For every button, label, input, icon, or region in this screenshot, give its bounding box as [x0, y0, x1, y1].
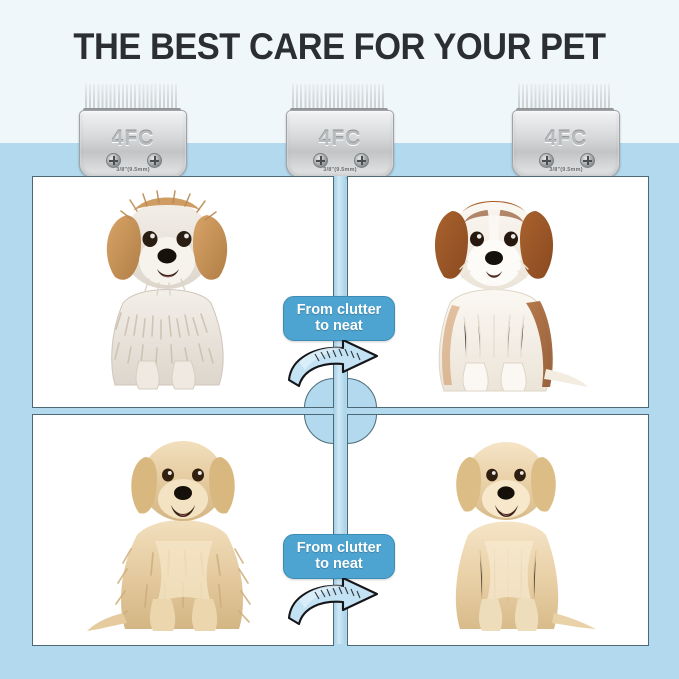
dog-photo-before-row1 [71, 185, 261, 397]
dog-photo-after-row2 [408, 425, 604, 635]
panel-corner-notch [347, 414, 377, 444]
blade-screw-right-icon [580, 153, 595, 168]
blade-size-label: 3/8"(9.5mm) [287, 167, 393, 173]
page-title: THE BEST CARE FOR YOUR PET [24, 26, 655, 68]
marketing-graphic: THE BEST CARE FOR YOUR PET 4FC 3/8"(9.5m… [0, 0, 679, 679]
blade-screw-left-icon [539, 153, 554, 168]
clipper-blade-3: 4FC 3/8"(9.5mm) [512, 84, 618, 176]
callout-row1: From clutter to neat [283, 296, 395, 401]
callout-line1: From clutter [297, 540, 382, 556]
curved-right-arrow-icon [281, 340, 393, 401]
blade-screw-left-icon [313, 153, 328, 168]
callout-row2: From clutter to neat [283, 534, 395, 639]
callout-badge: From clutter to neat [283, 296, 395, 341]
blade-screw-right-icon [354, 153, 369, 168]
curved-right-arrow-icon [281, 578, 393, 639]
clipper-blade-1: 4FC 3/8"(9.5mm) [79, 84, 185, 176]
blade-body: 4FC 3/8"(9.5mm) [79, 110, 187, 178]
blade-body: 4FC 3/8"(9.5mm) [512, 110, 620, 178]
dog-photo-before-row2 [83, 423, 283, 637]
callout-line1: From clutter [297, 302, 382, 318]
blade-size-label: 3/8"(9.5mm) [513, 167, 619, 173]
blade-model-label: 4FC [513, 127, 619, 151]
blade-body: 4FC 3/8"(9.5mm) [286, 110, 394, 178]
blade-model-label: 4FC [80, 127, 186, 151]
blade-screw-left-icon [106, 153, 121, 168]
callout-badge: From clutter to neat [283, 534, 395, 579]
clipper-blade-2: 4FC 3/8"(9.5mm) [286, 84, 392, 176]
panel-corner-notch [304, 414, 334, 444]
dog-photo-after-row1 [394, 183, 594, 401]
blade-screw-right-icon [147, 153, 162, 168]
callout-line2: to neat [315, 556, 363, 572]
callout-line2: to neat [315, 318, 363, 334]
blade-size-label: 3/8"(9.5mm) [80, 167, 186, 173]
blade-model-label: 4FC [287, 127, 393, 151]
